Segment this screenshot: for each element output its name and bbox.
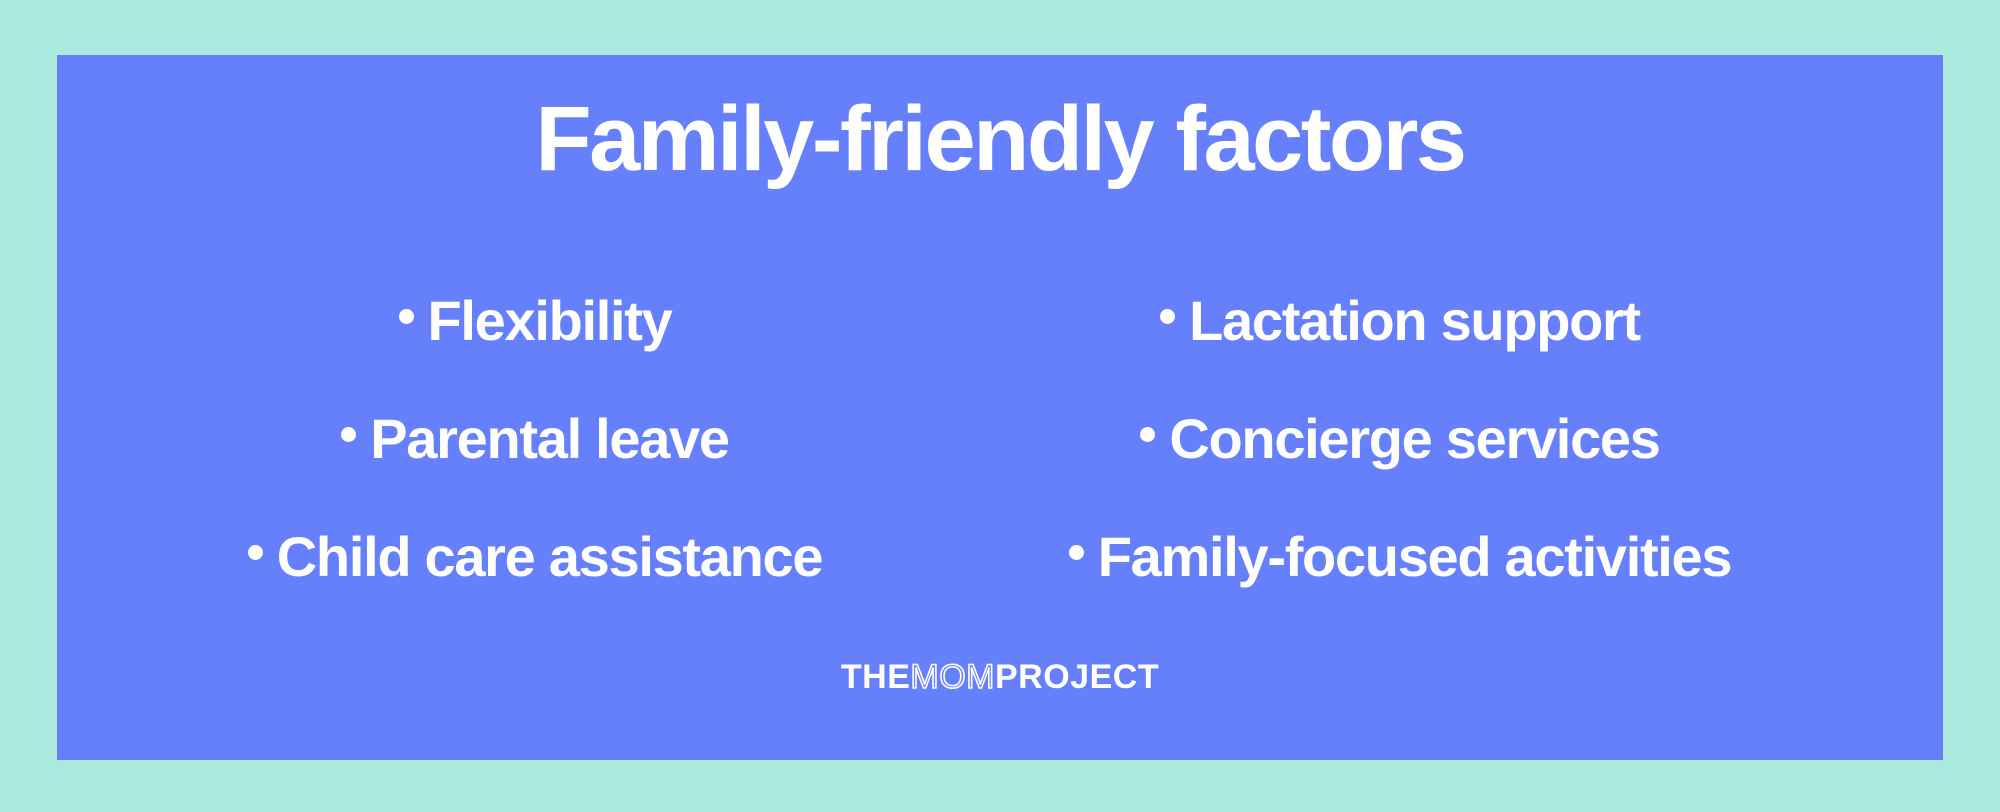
brand-logo: THEMOMPROJECT: [57, 660, 1943, 694]
list-item-label: Flexibility: [428, 293, 672, 349]
left-column: Flexibility Parental leave Child care as…: [135, 205, 935, 555]
list-item: Lactation support: [1000, 289, 1800, 349]
slide-canvas: Family-friendly factors Flexibility Pare…: [0, 0, 2000, 812]
bullet-dot-icon: [341, 427, 356, 442]
list-item-label: Lactation support: [1189, 293, 1640, 349]
logo-project: PROJECT: [995, 658, 1159, 696]
logo-the: THE: [841, 658, 911, 696]
bullet-dot-icon: [1069, 545, 1084, 560]
list-item: Concierge services: [1000, 407, 1800, 467]
content-panel: Family-friendly factors Flexibility Pare…: [57, 55, 1943, 760]
list-item: Parental leave: [135, 407, 935, 467]
list-item-label: Parental leave: [370, 411, 729, 467]
list-item: Flexibility: [135, 289, 935, 349]
logo-mom: MOM: [910, 658, 995, 696]
right-column: Lactation support Concierge services Fam…: [1000, 205, 1800, 555]
list-item: Family-focused activities: [1000, 525, 1800, 585]
list-item-label: Concierge services: [1169, 411, 1659, 467]
list-item: Child care assistance: [135, 525, 935, 585]
bullet-dot-icon: [399, 309, 414, 324]
list-item-label: Child care assistance: [277, 529, 822, 585]
factors-list: Flexibility Parental leave Child care as…: [57, 205, 1943, 555]
bullet-dot-icon: [248, 545, 263, 560]
list-item-label: Family-focused activities: [1098, 529, 1732, 585]
page-title: Family-friendly factors: [57, 93, 1943, 185]
bullet-dot-icon: [1160, 309, 1175, 324]
bullet-dot-icon: [1140, 427, 1155, 442]
logo-wordmark: THEMOMPROJECT: [841, 660, 1159, 694]
